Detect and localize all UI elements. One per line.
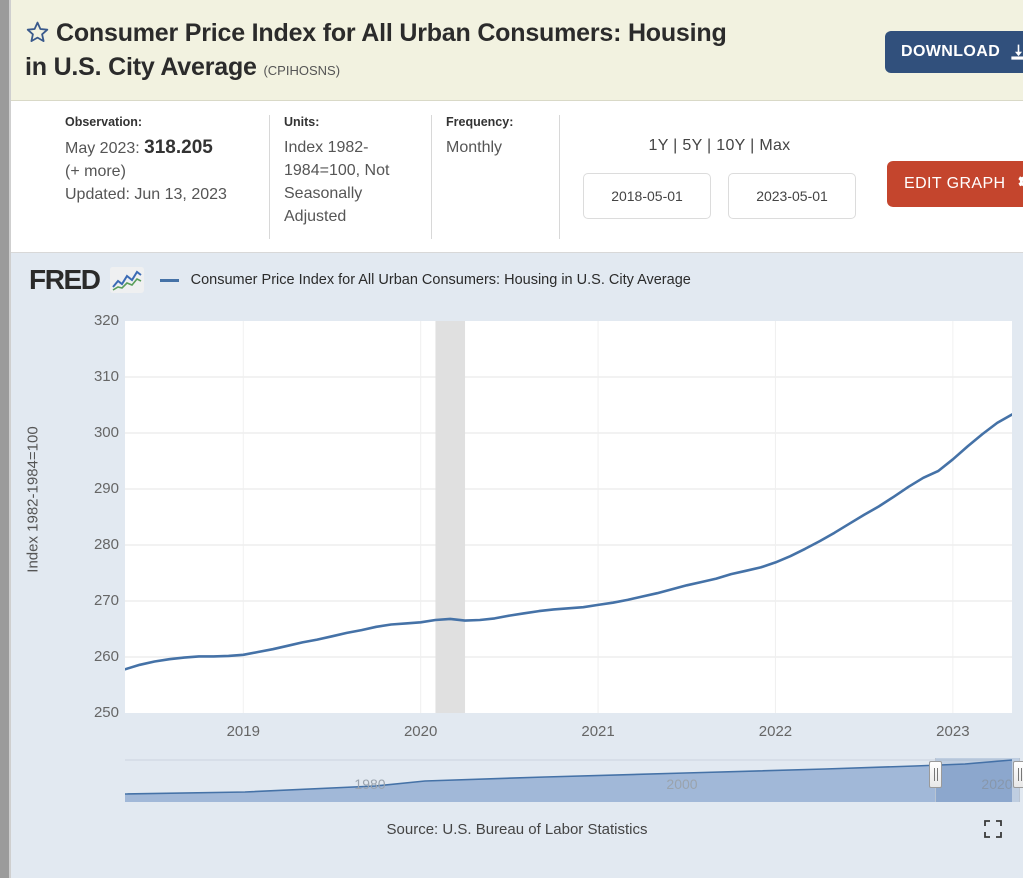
frequency-value: Monthly (446, 136, 556, 159)
sparkline-icon (110, 267, 144, 293)
legend-series-label: Consumer Price Index for All Urban Consu… (191, 272, 691, 288)
plot-area[interactable] (125, 321, 1012, 713)
title-second-line: in U.S. City Average (CPIHOSNS) (25, 52, 870, 86)
page-header: Consumer Price Index for All Urban Consu… (11, 0, 1023, 101)
legend-color-swatch (160, 279, 179, 282)
data-line (125, 415, 1012, 670)
chart-legend: FRED Consumer Price Index for All Urban … (29, 265, 691, 295)
series-id: (CPIHOSNS) (263, 63, 340, 78)
x-tick-2020: 2020 (404, 723, 437, 740)
x-tick-2021: 2021 (581, 723, 614, 740)
date-inputs: 2018-05-01 2023-05-01 (560, 173, 879, 219)
observation-cell: Observation: May 2023: 318.205 (+ more) … (51, 115, 266, 239)
date-range-controls: 1Y | 5Y | 10Y | Max 2018-05-01 2023-05-0… (559, 115, 879, 239)
series-line-chart (125, 321, 1012, 713)
slider-handle-right[interactable] (1013, 761, 1023, 788)
recession-shading (435, 321, 465, 713)
fred-logo: FRED (29, 265, 100, 295)
chart-panel: FRED Consumer Price Index for All Urban … (11, 253, 1023, 878)
y-tick-250: 250 (23, 704, 119, 721)
observation-more-link[interactable]: (+ more) (65, 160, 266, 183)
units-cell: Units: Index 1982-1984=100, Not Seasonal… (269, 115, 427, 239)
gridlines (125, 377, 1012, 657)
y-tick-310: 310 (23, 368, 119, 385)
frequency-label: Frequency: (446, 115, 556, 129)
quick-range-sep-2: | (707, 137, 711, 154)
frequency-cell: Frequency: Monthly (431, 115, 556, 239)
observation-value-row: May 2023: 318.205 (65, 136, 266, 160)
title-text-line1: Consumer Price Index for All Urban Consu… (56, 19, 727, 47)
observation-value: 318.205 (144, 137, 213, 158)
edit-graph-label: EDIT GRAPH (904, 175, 1006, 193)
x-tick-2022: 2022 (759, 723, 792, 740)
y-tick-320: 320 (23, 312, 119, 329)
y-tick-290: 290 (23, 480, 119, 497)
observation-label: Observation: (65, 115, 266, 129)
start-date-input[interactable]: 2018-05-01 (583, 173, 711, 219)
x-tick-2019: 2019 (227, 723, 260, 740)
vertical-gridlines (243, 321, 953, 713)
source-note: Source: U.S. Bureau of Labor Statistics (11, 821, 1023, 838)
end-date-input[interactable]: 2023-05-01 (728, 173, 856, 219)
title-text-line2: in U.S. City Average (25, 53, 257, 81)
units-label: Units: (284, 115, 427, 129)
edit-graph-button[interactable]: EDIT GRAPH (887, 161, 1023, 207)
x-tick-2023: 2023 (936, 723, 969, 740)
quick-range-max[interactable]: Max (759, 137, 790, 154)
navigator-selected-range[interactable] (935, 758, 1020, 802)
series-metadata-bar: Observation: May 2023: 318.205 (+ more) … (11, 101, 1023, 253)
observation-date: May 2023: (65, 140, 140, 157)
quick-range-sep-3: | (750, 137, 754, 154)
navigator-label-1980: 1980 (354, 776, 385, 792)
title-first-line: Consumer Price Index for All Urban Consu… (25, 18, 870, 52)
download-button-label: DOWNLOAD (901, 43, 1000, 61)
quick-range-1y[interactable]: 1Y (649, 137, 669, 154)
slider-handle-left[interactable] (929, 761, 942, 788)
plot-wrapper: Index 1982-1984=100 32031030029028027026… (11, 311, 1023, 711)
y-tick-300: 300 (23, 424, 119, 441)
y-tick-270: 270 (23, 592, 119, 609)
fullscreen-icon[interactable] (983, 819, 1003, 839)
x-axis-ticks: 20192020202120222023 (125, 715, 1015, 745)
quick-range-5y[interactable]: 5Y (682, 137, 702, 154)
page-title: Consumer Price Index for All Urban Consu… (25, 18, 870, 86)
quick-range-10y[interactable]: 10Y (716, 137, 745, 154)
y-axis-ticks: 320310300290280270260250 (19, 311, 119, 711)
quick-range-links: 1Y | 5Y | 10Y | Max (560, 137, 879, 155)
y-tick-280: 280 (23, 536, 119, 553)
download-button[interactable]: DOWNLOAD (885, 31, 1023, 73)
quick-range-sep-1: | (673, 137, 677, 154)
download-icon (1009, 43, 1023, 62)
range-navigator[interactable]: 1980 2000 2020 (125, 758, 1012, 802)
page-scrollbar[interactable] (0, 0, 9, 878)
units-value: Index 1982-1984=100, Not Seasonally Adju… (284, 136, 427, 228)
navigator-sparkline (125, 758, 1012, 802)
fred-series-page: Consumer Price Index for All Urban Consu… (0, 0, 1023, 878)
star-icon[interactable] (25, 20, 50, 52)
gear-icon (1015, 172, 1023, 196)
navigator-label-2000: 2000 (666, 776, 697, 792)
observation-updated: Updated: Jun 13, 2023 (65, 183, 266, 206)
y-tick-260: 260 (23, 648, 119, 665)
